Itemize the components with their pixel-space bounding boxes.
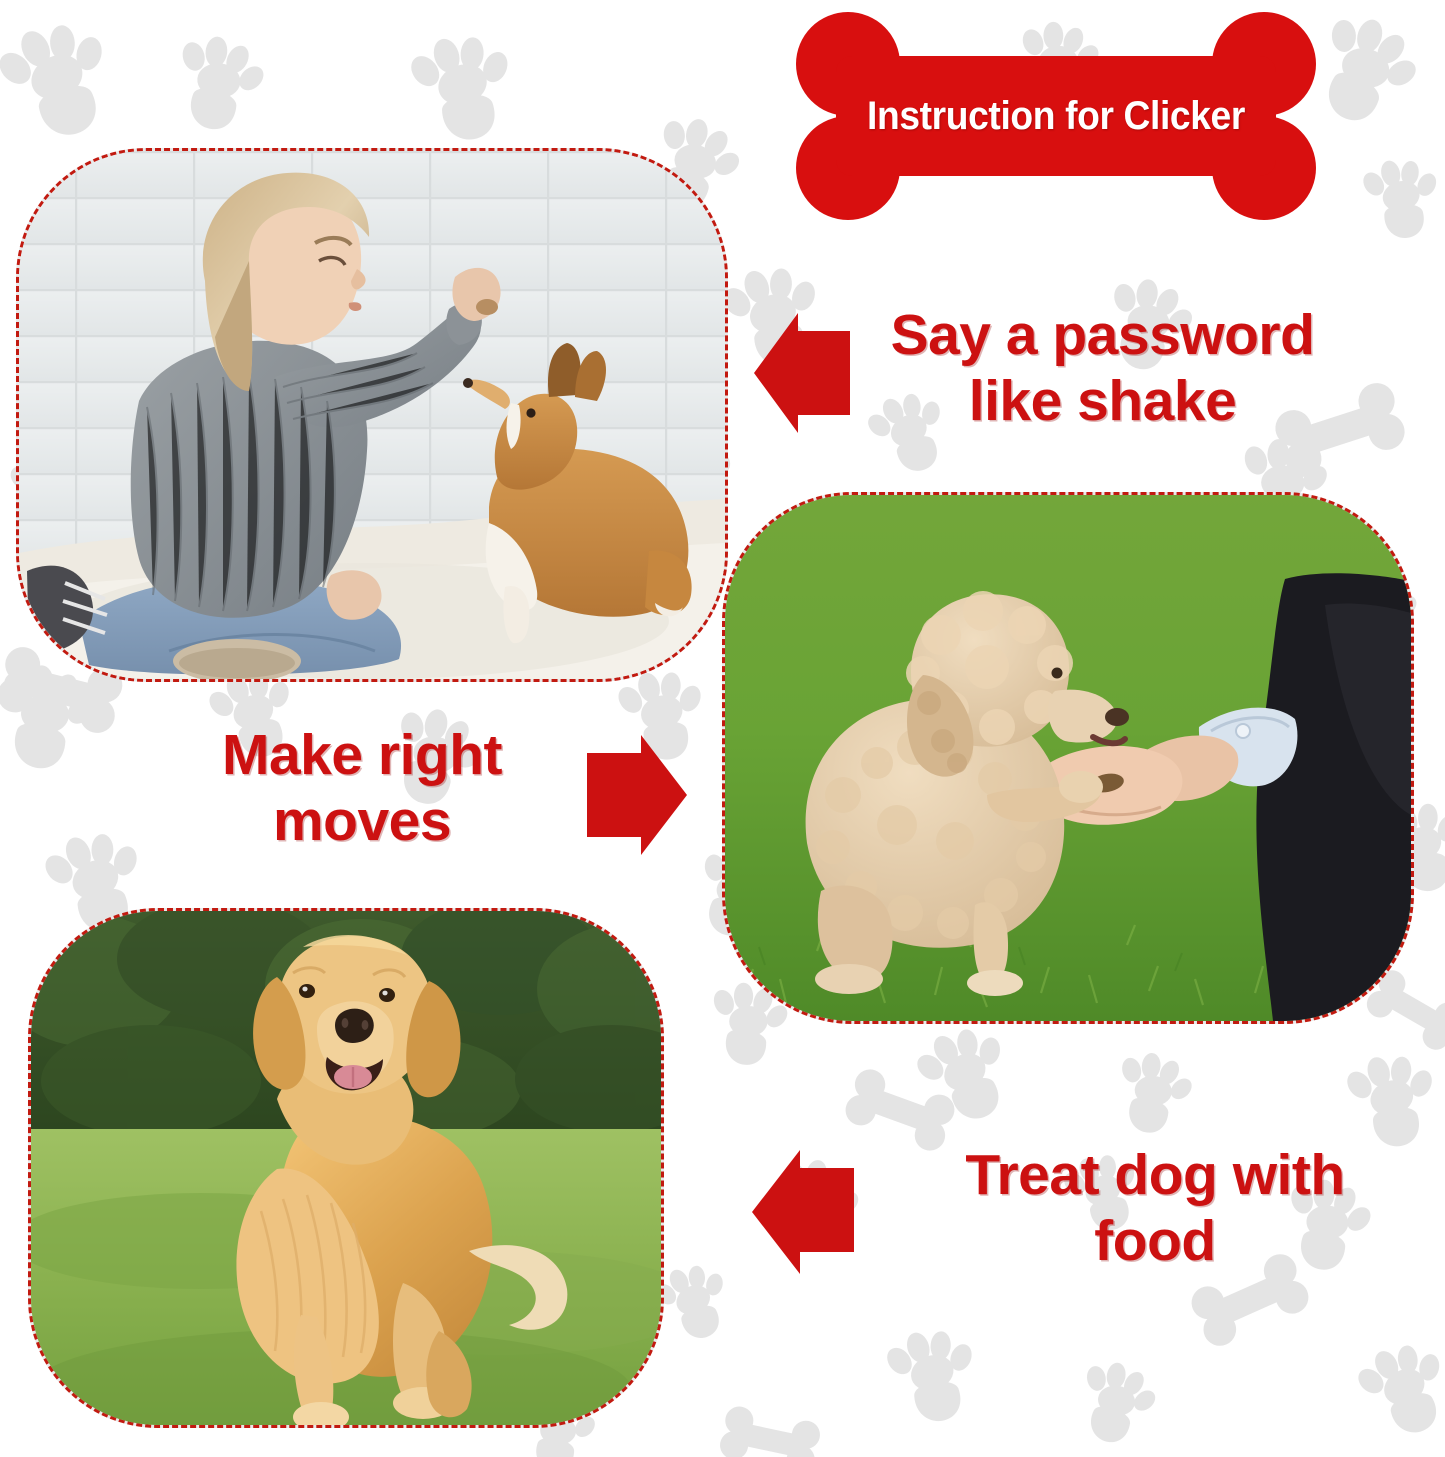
infographic-page: Instruction for Clicker — [0, 0, 1445, 1457]
arrow-left-icon-step3 — [750, 1144, 858, 1280]
step1-line2: like shake — [860, 368, 1345, 434]
step2-line1: Make right — [152, 722, 572, 788]
title-text: Instruction for Clicker — [805, 12, 1307, 220]
step-label-make-moves: Make right moves — [152, 722, 572, 854]
step-label-say-password: Say a password like shake — [860, 302, 1345, 434]
photo-woman-training-corgi — [16, 148, 728, 682]
title-banner: Instruction for Clicker — [786, 12, 1326, 220]
step1-line1: Say a password — [860, 302, 1345, 368]
step2-line2: moves — [152, 788, 572, 854]
photo-golden-retriever-running — [28, 908, 664, 1428]
step3-line1: Treat dog with — [905, 1142, 1405, 1208]
step3-line2: food — [905, 1208, 1405, 1274]
photo-poodle-shaking-hand — [722, 492, 1414, 1024]
step-label-treat-dog: Treat dog with food — [905, 1142, 1405, 1274]
arrow-right-icon-step2 — [581, 727, 689, 863]
arrow-left-icon-step1 — [752, 305, 852, 441]
